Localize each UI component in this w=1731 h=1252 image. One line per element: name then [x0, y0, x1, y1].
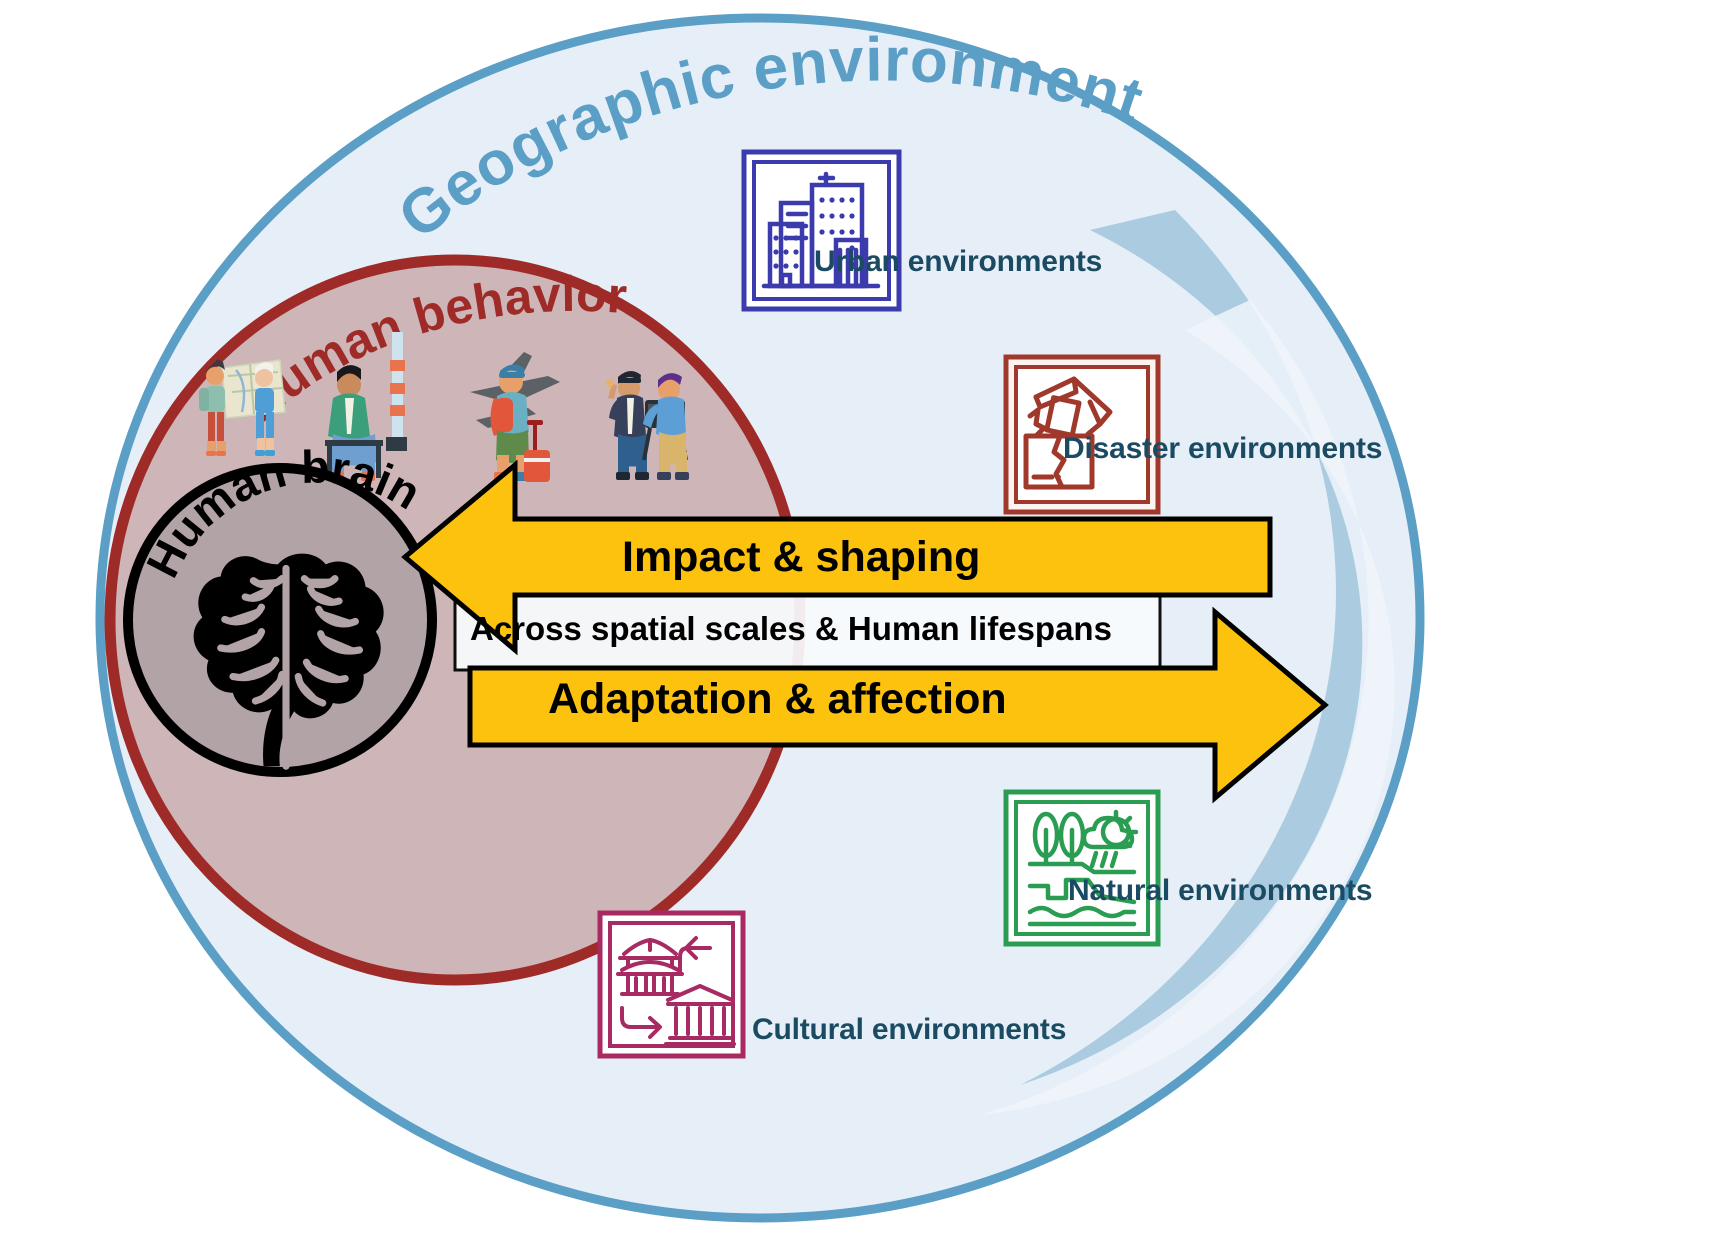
adaptation-arrow-label: Adaptation & affection — [548, 675, 1007, 724]
natural-environments-icon[interactable] — [1006, 792, 1158, 944]
natural-environments-label: Natural environments — [1068, 874, 1372, 908]
cultural-environments-icon[interactable] — [600, 913, 743, 1056]
urban-environments-icon[interactable] — [744, 152, 899, 309]
urban-environments-label: Urban environments — [814, 245, 1102, 279]
impact-arrow-label: Impact & shaping — [622, 533, 980, 582]
disaster-environments-label: Disaster environments — [1063, 432, 1382, 466]
figure-canvas: Geographic environment Human behavior — [0, 0, 1731, 1252]
middle-band-label: Across spatial scales & Human lifespans — [470, 610, 1112, 648]
cultural-environments-label: Cultural environments — [752, 1013, 1066, 1047]
